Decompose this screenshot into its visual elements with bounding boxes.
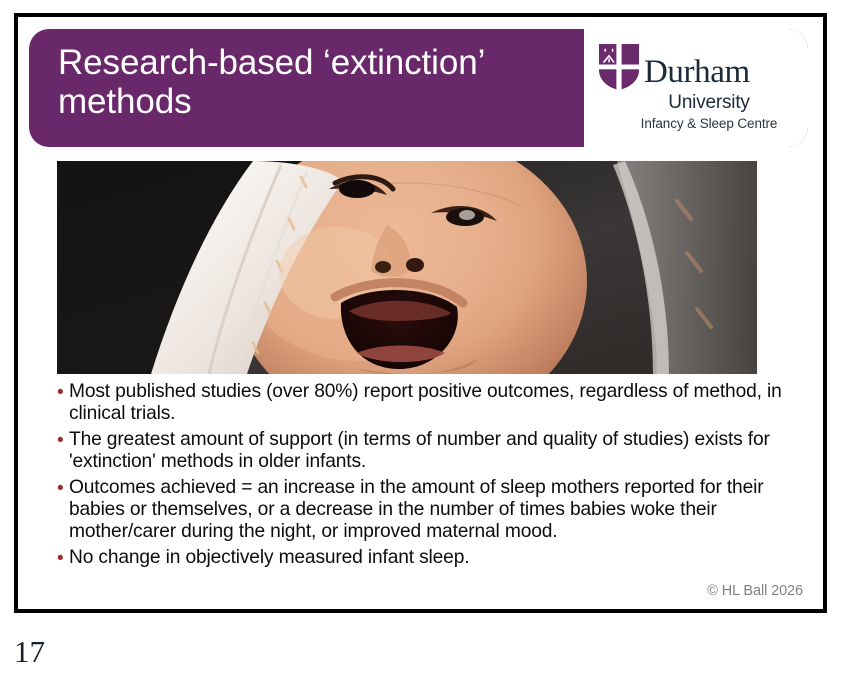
bullet-marker-icon: • bbox=[57, 429, 69, 452]
logo-inner: Durham University Infancy & Sleep Centre bbox=[598, 39, 798, 141]
bullet-marker-icon: • bbox=[57, 547, 69, 570]
list-item: • Outcomes achieved = an increase in the… bbox=[57, 477, 797, 543]
list-item: • The greatest amount of support (in ter… bbox=[57, 429, 797, 473]
page-title: Research-based ‘extinction’ methods bbox=[58, 43, 578, 121]
logo-subtitle: University bbox=[598, 93, 798, 112]
logo-tagline: Infancy & Sleep Centre bbox=[598, 117, 798, 131]
list-item: • No change in objectively measured infa… bbox=[57, 547, 797, 570]
logo-top-row: Durham bbox=[598, 39, 798, 91]
crying-infant-photo bbox=[57, 161, 757, 374]
slide-frame: Research-based ‘extinction’ methods bbox=[14, 13, 827, 613]
logo-wordmark: Durham bbox=[644, 56, 750, 89]
slide-number: 17 bbox=[14, 636, 45, 667]
list-item-text: Outcomes achieved = an increase in the a… bbox=[69, 477, 797, 543]
bullet-marker-icon: • bbox=[57, 477, 69, 500]
slide-title-bar: Research-based ‘extinction’ methods bbox=[29, 29, 808, 147]
durham-crest-icon bbox=[598, 43, 640, 91]
copyright-notice: © HL Ball 2026 bbox=[707, 583, 803, 599]
list-item: • Most published studies (over 80%) repo… bbox=[57, 381, 797, 425]
slide-body: • Most published studies (over 80%) repo… bbox=[57, 381, 797, 574]
list-item-text: The greatest amount of support (in terms… bbox=[69, 429, 797, 473]
bullet-marker-icon: • bbox=[57, 381, 69, 404]
list-item-text: No change in objectively measured infant… bbox=[69, 547, 797, 569]
durham-logo-panel: Durham University Infancy & Sleep Centre bbox=[584, 29, 808, 147]
list-item-text: Most published studies (over 80%) report… bbox=[69, 381, 797, 425]
